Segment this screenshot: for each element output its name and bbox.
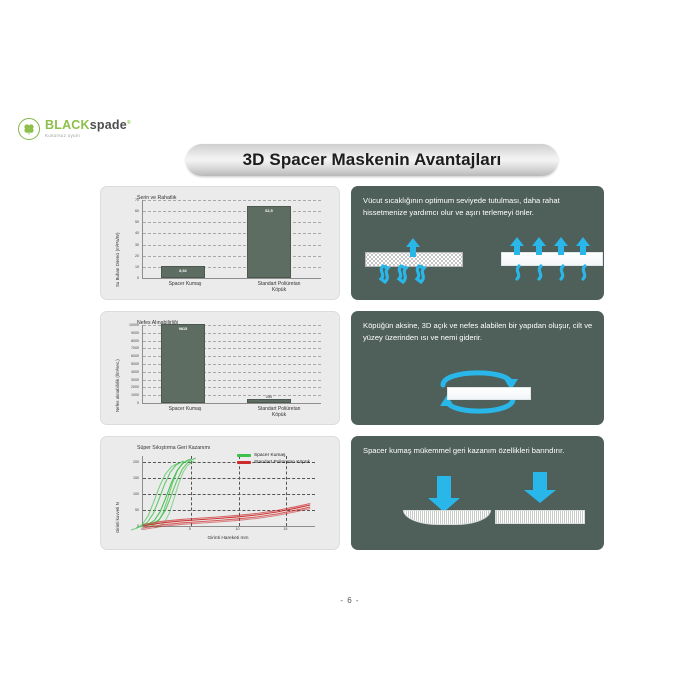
- page-title: 3D Spacer Maskenin Avantajları: [243, 150, 502, 170]
- y-tick-label: 1000: [109, 393, 139, 397]
- bar-1: 250: [247, 399, 291, 403]
- y-tick-label: 10: [109, 265, 139, 269]
- bar-value-label: 9815: [162, 327, 204, 331]
- bar-1: 62,5: [247, 206, 291, 278]
- x-tick-label: 0: [137, 527, 147, 531]
- y-tick-label: 8000: [109, 339, 139, 343]
- chart-xlabel-3: Girinti Hareketi mm: [142, 536, 314, 541]
- chart-plot-2: 9815250: [142, 325, 321, 404]
- y-tick-label: 50: [109, 220, 139, 224]
- y-tick-label: 0: [109, 401, 139, 405]
- grid-line: [143, 222, 321, 223]
- x-tick-label: 5: [185, 527, 195, 531]
- y-tick-label: 60: [109, 209, 139, 213]
- chart-card-compression-recovery: Süper Sıkıştırma Geri Kazanımı Girinti k…: [100, 436, 340, 550]
- chart-title-3: Süper Sıkıştırma Geri Kazanımı: [137, 445, 210, 451]
- y-tick-label: 0: [109, 276, 139, 280]
- panel-text-2: Köpüğün aksine, 3D açık ve nefes alabile…: [363, 320, 596, 345]
- bar-0: 9815: [161, 324, 205, 403]
- legend-label-foam: Standart Poliüretan Köpük: [254, 460, 310, 465]
- y-tick-label: 3000: [109, 378, 139, 382]
- legend-label-spacer: Spacer Kumaş: [254, 453, 285, 458]
- brand-wordmark: BLACKspade®: [45, 119, 131, 132]
- y-tick-label: 6000: [109, 354, 139, 358]
- bar-value-label: 250: [248, 395, 290, 399]
- grid-line: [143, 245, 321, 246]
- brand-word-black: BLACK: [45, 118, 90, 132]
- y-tick-label: 2000: [109, 385, 139, 389]
- legend-swatch-spacer: [237, 454, 251, 458]
- x-tick-label: 10: [233, 527, 243, 531]
- chart-card-water-vapour-resistance: Serin ve Rahatlık Su Buharı Direnci (m²P…: [100, 186, 340, 300]
- y-tick-label: 100: [111, 492, 139, 496]
- legend-item-spacer: Spacer Kumaş: [237, 453, 310, 458]
- compressed-slab-illustration: [403, 510, 491, 525]
- chart-xcat-1b: Standart PoliüretanKöpük: [232, 281, 326, 294]
- y-tick-label: 10000: [109, 323, 139, 327]
- chart-plot-1: 8,9262,5: [142, 200, 321, 279]
- bar-0: 8,92: [161, 266, 205, 278]
- cat-line-2: Köpük: [232, 412, 326, 418]
- brand-word-spade: spade: [90, 118, 127, 132]
- y-tick-label: 200: [111, 460, 139, 464]
- text-card-recovery: Spacer kumaş mükemmel geri kazanım özell…: [351, 436, 604, 550]
- chart-ylabel-3: Girinti kuvveti N: [115, 502, 120, 533]
- panel-text-3: Spacer kumaş mükemmel geri kazanım özell…: [363, 445, 596, 457]
- advantage-row-1: Serin ve Rahatlık Su Buharı Direnci (m²P…: [100, 186, 604, 300]
- vapour-arrows-through-porous-slab-icon: [361, 236, 473, 286]
- bar-value-label: 8,92: [162, 269, 204, 273]
- y-tick-label: 50: [111, 508, 139, 512]
- legend-swatch-foam: [237, 461, 251, 465]
- chart-xcat-1a: Spacer Kumaş: [142, 281, 228, 287]
- advantage-row-2: Nefes Alınabilirliği Nefes alınabilirlik…: [100, 311, 604, 425]
- y-tick-label: 0: [111, 524, 139, 528]
- y-tick-label: 70: [109, 198, 139, 202]
- page-title-banner: 3D Spacer Maskenin Avantajları: [186, 144, 558, 176]
- content-rows: Serin ve Rahatlık Su Buharı Direnci (m²P…: [100, 186, 604, 561]
- brand-tagline: Kusursuz uyum: [45, 134, 131, 139]
- text-card-breathable-structure: Köpüğün aksine, 3D açık ve nefes alabile…: [351, 311, 604, 425]
- y-tick-label: 9000: [109, 331, 139, 335]
- chart-xcat-2b: Standart PoliüretanKöpük: [232, 406, 326, 419]
- legend-item-foam: Standart Poliüretan Köpük: [237, 460, 310, 465]
- y-tick-label: 30: [109, 243, 139, 247]
- chart-card-breathability: Nefes Alınabilirliği Nefes alınabilirlik…: [100, 311, 340, 425]
- grid-line: [143, 256, 321, 257]
- registered-mark: ®: [127, 120, 131, 126]
- flat-slab-illustration: [495, 510, 585, 524]
- y-tick-label: 5000: [109, 362, 139, 366]
- y-tick-label: 150: [111, 476, 139, 480]
- series-curve: [143, 459, 191, 526]
- compression-arrow-down-right-icon: [517, 470, 565, 506]
- y-tick-label: 7000: [109, 346, 139, 350]
- text-card-thermal-comfort: Vücut sıcaklığının optimum seviyede tutu…: [351, 186, 604, 300]
- document-page: BLACKspade® Kusursuz uyum 3D Spacer Mask…: [0, 0, 700, 700]
- series-curve: [148, 458, 196, 525]
- vapour-arrows-blocked-icon: [497, 234, 604, 286]
- x-tick-label: 15: [280, 527, 290, 531]
- page-number: - 6 -: [0, 596, 700, 605]
- grid-line: [143, 211, 321, 212]
- grid-line: [143, 200, 321, 201]
- chart-legend-3: Spacer Kumaş Standart Poliüretan Köpük: [237, 453, 310, 467]
- chart-xcat-2a: Spacer Kumaş: [142, 406, 228, 412]
- advantage-row-3: Süper Sıkıştırma Geri Kazanımı Girinti k…: [100, 436, 604, 550]
- y-tick-label: 40: [109, 231, 139, 235]
- cat-line-2: Köpük: [232, 287, 326, 293]
- panel-text-1: Vücut sıcaklığının optimum seviyede tutu…: [363, 195, 596, 220]
- compression-arrow-down-left-icon: [421, 474, 469, 514]
- clover-leaf-icon: [18, 118, 40, 140]
- grid-line: [143, 233, 321, 234]
- y-tick-label: 20: [109, 254, 139, 258]
- y-tick-label: 4000: [109, 370, 139, 374]
- spacer-slab-illustration: [447, 387, 531, 400]
- brand-logo: BLACKspade® Kusursuz uyum: [18, 118, 131, 140]
- bar-value-label: 62,5: [248, 209, 290, 213]
